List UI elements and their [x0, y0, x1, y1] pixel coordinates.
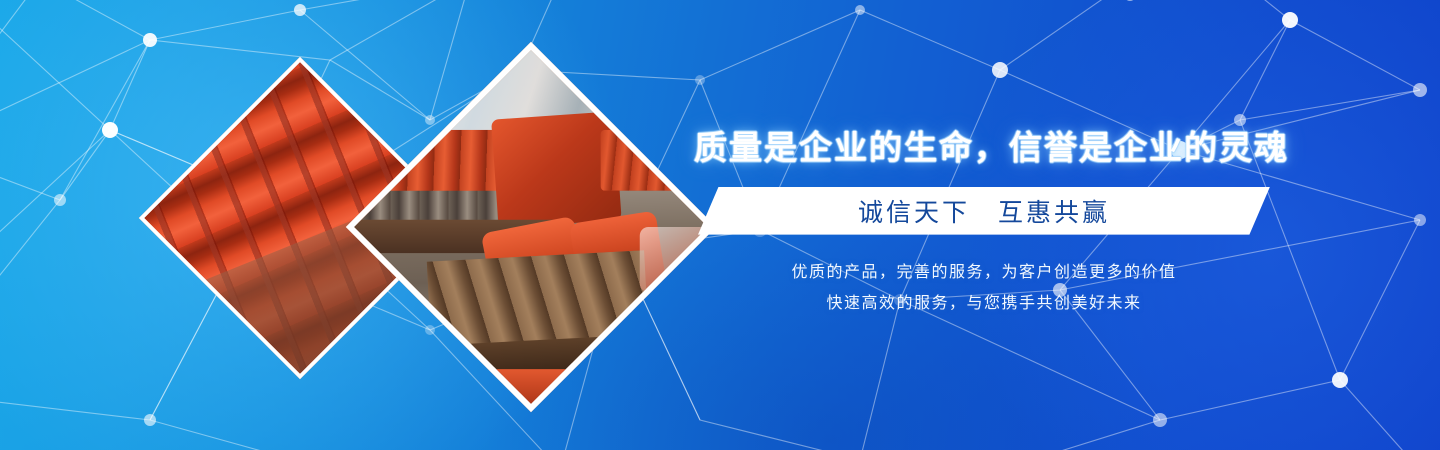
banner-copy: 质量是企业的生命，信誉是企业的灵魂 诚信天下 互惠共赢 优质的产品，完善的服务，…	[694, 128, 1274, 319]
promo-banner: 质量是企业的生命，信誉是企业的灵魂 诚信天下 互惠共赢 优质的产品，完善的服务，…	[0, 0, 1440, 450]
banner-headline: 质量是企业的生命，信誉是企业的灵魂	[694, 128, 1274, 168]
slogan-strip: 诚信天下 互惠共赢	[698, 187, 1270, 235]
slogan-strip-text: 诚信天下 互惠共赢	[858, 193, 1110, 229]
banner-subcopy: 优质的产品，完善的服务，为客户创造更多的价值 快速高效的服务，与您携手共创美好未…	[694, 257, 1274, 319]
subline-1: 优质的产品，完善的服务，为客户创造更多的价值	[694, 257, 1274, 288]
subline-2: 快速高效的服务，与您携手共创美好未来	[694, 288, 1274, 319]
